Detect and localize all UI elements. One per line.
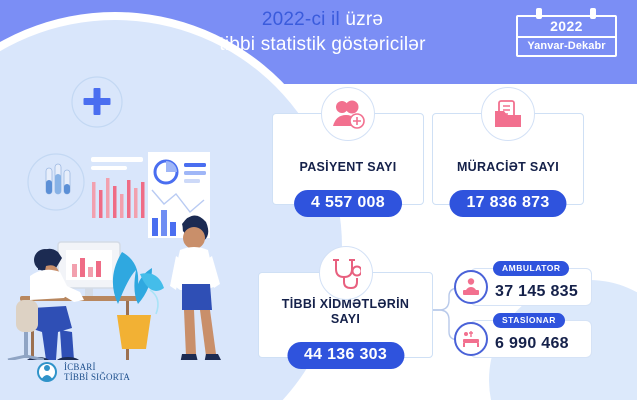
card-muraciet: MÜRACİƏT SAYI 17 836 873 xyxy=(432,113,584,205)
test-tubes-icon xyxy=(46,164,70,194)
stethoscope-icon xyxy=(319,246,373,300)
subcard-stasionar: STASİONAR 6 990 468 xyxy=(470,320,592,358)
plus-icon xyxy=(84,88,111,115)
calendar-range: Yanvar-Dekabr xyxy=(518,38,615,55)
card-pasiyent: PASİYENT SAYI 4 557 008 xyxy=(272,113,424,205)
infographic-root: İCBARİ TİBBİ SIĞORTA 2022-ci il üzrə tib… xyxy=(0,0,637,400)
calendar-year: 2022 xyxy=(518,17,615,38)
card-xidmet: TİBBİ XİDMƏTLƏRİN SAYI 44 136 303 xyxy=(258,272,433,358)
bar-chart-red xyxy=(92,178,152,218)
card-xidmet-value: 44 136 303 xyxy=(287,342,404,369)
subcard-stasionar-value: 6 990 468 xyxy=(495,335,569,353)
card-muraciet-value: 17 836 873 xyxy=(449,190,566,217)
calendar-ring-right xyxy=(590,8,596,19)
calendar-box: 2022 Yanvar-Dekabr xyxy=(516,15,617,57)
subcard-ambulator-tag: AMBULATOR xyxy=(493,261,569,276)
subcard-stasionar-tag: STASİONAR xyxy=(493,313,565,328)
subcard-ambulator-value: 37 145 835 xyxy=(495,283,578,301)
card-muraciet-label: MÜRACİƏT SAYI xyxy=(433,160,583,175)
title-year-highlight: 2022-ci il xyxy=(262,9,340,30)
chart-header-lines xyxy=(91,157,143,170)
calendar-ring-left xyxy=(536,8,542,19)
page-title: 2022-ci il üzrə tibbi statistik göstəric… xyxy=(150,8,495,58)
hospital-bed-icon xyxy=(454,322,488,356)
title-line-2: tibbi statistik göstəricilər xyxy=(150,32,495,58)
card-pasiyent-value: 4 557 008 xyxy=(294,190,402,217)
title-line-1: 2022-ci il üzrə xyxy=(150,8,495,32)
documents-folder-icon xyxy=(481,87,535,141)
outpatient-icon xyxy=(454,270,488,304)
people-add-icon xyxy=(321,87,375,141)
logo-line1: İCBARİ xyxy=(64,362,130,372)
insurance-person-logo-icon xyxy=(36,361,58,383)
card-xidmet-label: TİBBİ XİDMƏTLƏRİN SAYI xyxy=(259,297,432,327)
title-line1-rest: üzrə xyxy=(340,9,383,30)
calendar-rings xyxy=(516,8,617,15)
subcard-ambulator: AMBULATOR 37 145 835 xyxy=(470,268,592,306)
logo: İCBARİ TİBBİ SIĞORTA xyxy=(36,361,130,383)
calendar-badge: 2022 Yanvar-Dekabr xyxy=(516,8,617,57)
card-pasiyent-label: PASİYENT SAYI xyxy=(273,160,423,175)
card-xidmet-label-line2: SAYI xyxy=(331,312,360,326)
logo-line2: TİBBİ SIĞORTA xyxy=(64,372,130,382)
medical-statistics-illustration xyxy=(0,60,250,360)
